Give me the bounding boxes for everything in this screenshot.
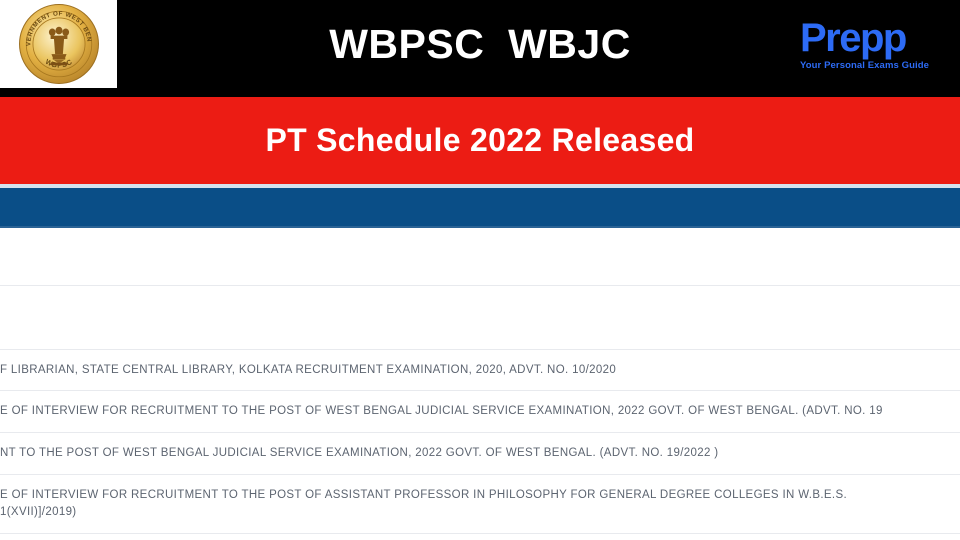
notice-text: E OF INTERVIEW FOR RECRUITMENT TO THE PO… — [0, 403, 883, 420]
prepp-wordmark: Prepp — [800, 18, 946, 58]
notices-list[interactable]: F LIBRARIAN, STATE CENTRAL LIBRARY, KOLK… — [0, 230, 960, 540]
notice-text-multiline: E OF INTERVIEW FOR RECRUITMENT TO THE PO… — [0, 487, 847, 521]
prepp-brand-logo[interactable]: Prepp Your Personal Exams Guide — [800, 18, 946, 80]
page-root: GOVERNMENT OF WEST BENGAL WBPSC — [0, 0, 960, 540]
notices-top-spacer — [0, 230, 960, 285]
navigation-blue-band[interactable] — [0, 188, 960, 228]
notice-text: F LIBRARIAN, STATE CENTRAL LIBRARY, KOLK… — [0, 362, 616, 379]
notice-row-3[interactable]: NT TO THE POST OF WEST BENGAL JUDICIAL S… — [0, 433, 960, 474]
notices-blank-row — [0, 286, 960, 349]
announcement-banner-text: PT Schedule 2022 Released — [265, 122, 694, 159]
notice-row-1[interactable]: F LIBRARIAN, STATE CENTRAL LIBRARY, KOLK… — [0, 350, 960, 390]
notice-text: NT TO THE POST OF WEST BENGAL JUDICIAL S… — [0, 445, 718, 462]
notice-row-2[interactable]: E OF INTERVIEW FOR RECRUITMENT TO THE PO… — [0, 391, 960, 432]
prepp-tagline: Your Personal Exams Guide — [800, 60, 946, 71]
notice-row-4[interactable]: E OF INTERVIEW FOR RECRUITMENT TO THE PO… — [0, 475, 960, 533]
announcement-banner: PT Schedule 2022 Released — [0, 97, 960, 184]
row-separator — [0, 533, 960, 534]
notice-text-line-1: E OF INTERVIEW FOR RECRUITMENT TO THE PO… — [0, 487, 847, 504]
header-bar: GOVERNMENT OF WEST BENGAL WBPSC — [0, 0, 960, 97]
notice-text-line-2: 1(XVII)]/2019) — [0, 504, 847, 521]
